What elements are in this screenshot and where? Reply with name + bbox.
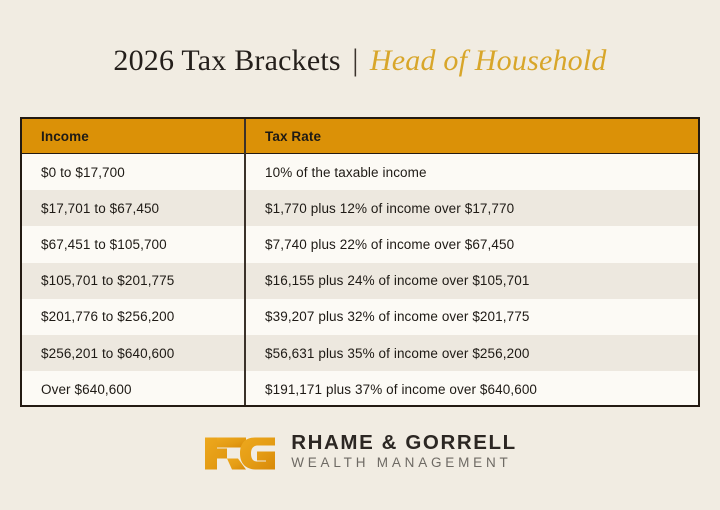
table-row: $256,201 to $640,600 $56,631 plus 35% of…: [22, 335, 698, 371]
cell-tax-rate: $191,171 plus 37% of income over $640,60…: [246, 371, 698, 407]
cell-income: $17,701 to $67,450: [22, 190, 246, 226]
brand-text: RHAME & GORRELL WEALTH MANAGEMENT: [291, 432, 517, 472]
page-title-accent: Head of Household: [370, 44, 607, 77]
cell-income: $0 to $17,700: [22, 154, 246, 190]
cell-income: $201,776 to $256,200: [22, 299, 246, 335]
table-row: $201,776 to $256,200 $39,207 plus 32% of…: [22, 299, 698, 335]
column-header-tax-rate: Tax Rate: [246, 119, 698, 153]
tax-brackets-table: Income Tax Rate $0 to $17,700 10% of the…: [20, 117, 700, 407]
cell-tax-rate: $7,740 plus 22% of income over $67,450: [246, 226, 698, 262]
page-title-main: 2026 Tax Brackets: [113, 44, 340, 77]
page-title: 2026 Tax Brackets | Head of Household: [0, 42, 720, 78]
cell-income: $67,451 to $105,700: [22, 226, 246, 262]
cell-tax-rate: $56,631 plus 35% of income over $256,200: [246, 335, 698, 371]
table-body: $0 to $17,700 10% of the taxable income …: [22, 154, 698, 407]
cell-tax-rate: $1,770 plus 12% of income over $17,770: [246, 190, 698, 226]
title-separator: |: [345, 42, 365, 77]
table-row: $17,701 to $67,450 $1,770 plus 12% of in…: [22, 190, 698, 226]
brand-name: RHAME & GORRELL: [291, 432, 517, 454]
table-row: $105,701 to $201,775 $16,155 plus 24% of…: [22, 263, 698, 299]
table-header-row: Income Tax Rate: [22, 119, 698, 154]
cell-tax-rate: 10% of the taxable income: [246, 154, 698, 190]
table-row: $67,451 to $105,700 $7,740 plus 22% of i…: [22, 226, 698, 262]
column-header-income: Income: [22, 119, 246, 153]
rg-monogram-icon: [203, 430, 277, 474]
brand-logo: RHAME & GORRELL WEALTH MANAGEMENT: [0, 430, 720, 474]
table-row: Over $640,600 $191,171 plus 37% of incom…: [22, 371, 698, 407]
table-row: $0 to $17,700 10% of the taxable income: [22, 154, 698, 190]
brand-tagline: WEALTH MANAGEMENT: [291, 455, 517, 472]
column-divider: [244, 119, 246, 405]
cell-income: $105,701 to $201,775: [22, 263, 246, 299]
cell-tax-rate: $39,207 plus 32% of income over $201,775: [246, 299, 698, 335]
cell-income: $256,201 to $640,600: [22, 335, 246, 371]
cell-tax-rate: $16,155 plus 24% of income over $105,701: [246, 263, 698, 299]
cell-income: Over $640,600: [22, 371, 246, 407]
